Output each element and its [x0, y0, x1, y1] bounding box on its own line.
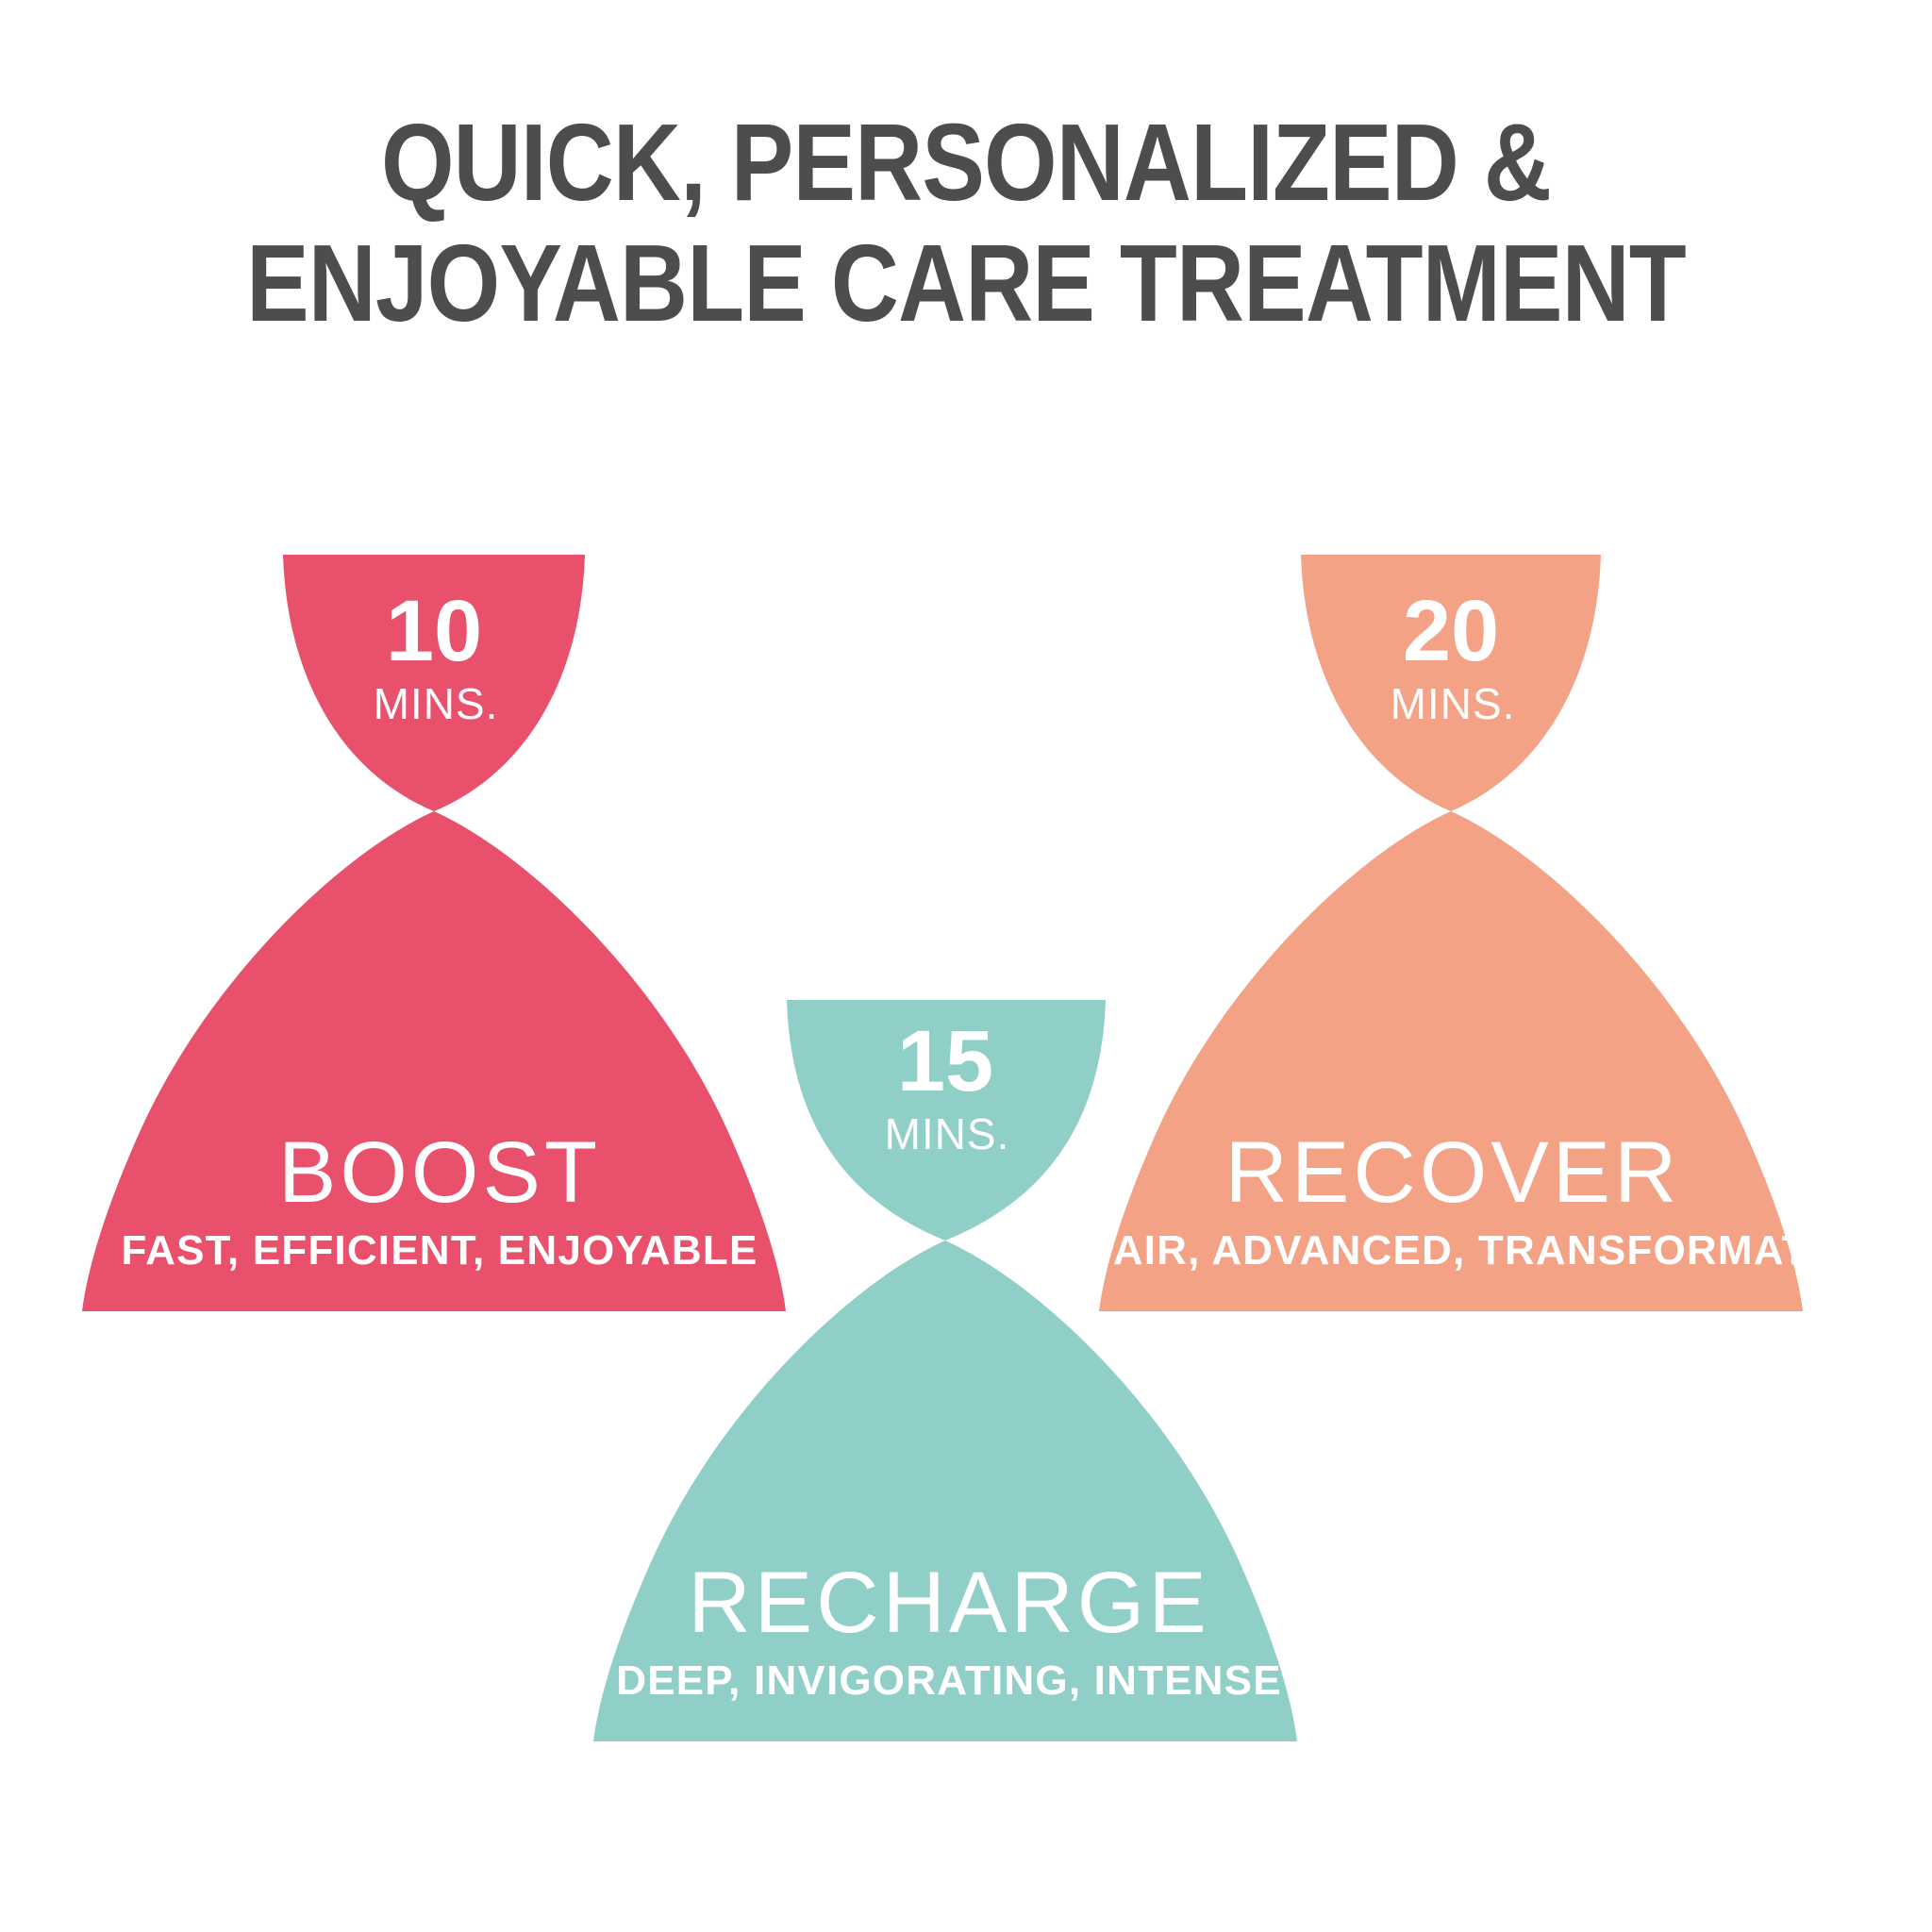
boost-descriptors: FAST, EFFICIENT, ENJOYABLE [121, 1227, 758, 1274]
recharge-duration-unit: MINS. [885, 1109, 1010, 1158]
recover-duration-unit: MINS. [1391, 679, 1516, 728]
infographic-canvas: QUICK, PERSONALIZED & ENJOYABLE CARE TRE… [0, 0, 1932, 1932]
boost-duration-value: 10 [386, 583, 482, 679]
hourglass-chart: 10 MINS. BOOST FAST, EFFICIENT, ENJOYABL… [0, 0, 1932, 1932]
hourglass-boost[interactable]: 10 MINS. BOOST FAST, EFFICIENT, ENJOYABL… [82, 555, 786, 1311]
hourglass-recover[interactable]: 20 MINS. RECOVER REPAIR, ADVANCED, TRANS… [1027, 555, 1878, 1311]
boost-duration-unit: MINS. [374, 679, 499, 728]
recover-duration-value: 20 [1403, 583, 1499, 679]
recharge-name: RECHARGE [688, 1555, 1209, 1651]
boost-name: BOOST [278, 1124, 601, 1221]
recharge-descriptors: DEEP, INVIGORATING, INTENSE [616, 1657, 1282, 1704]
recover-name: RECOVER [1225, 1124, 1681, 1221]
recover-descriptors: REPAIR, ADVANCED, TRANSFORMATIVE [1027, 1227, 1878, 1274]
recharge-duration-value: 15 [897, 1013, 993, 1109]
